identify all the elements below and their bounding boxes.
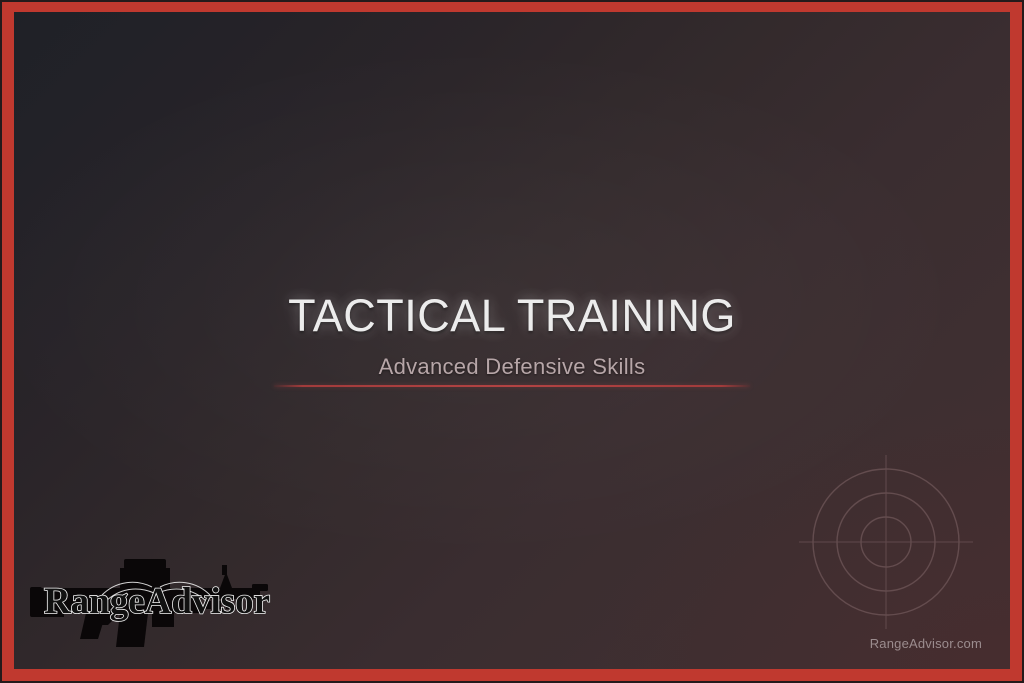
- title-accent-rule: [274, 385, 750, 387]
- page-title: TACTICAL TRAINING: [14, 292, 1010, 340]
- title-block: TACTICAL TRAINING Advanced Defensive Ski…: [14, 292, 1010, 380]
- page-subtitle: Advanced Defensive Skills: [14, 354, 1010, 380]
- rifle-silhouette-icon: RangeAdvisor: [24, 555, 290, 647]
- footer-url: RangeAdvisor.com: [870, 636, 982, 651]
- brand-wordmark: RangeAdvisor: [44, 581, 270, 622]
- slide-canvas: TACTICAL TRAINING Advanced Defensive Ski…: [14, 12, 1010, 669]
- brand-logo: RangeAdvisor: [24, 555, 290, 647]
- presentation-slide: TACTICAL TRAINING Advanced Defensive Ski…: [0, 0, 1024, 683]
- target-reticle-icon: [786, 442, 986, 642]
